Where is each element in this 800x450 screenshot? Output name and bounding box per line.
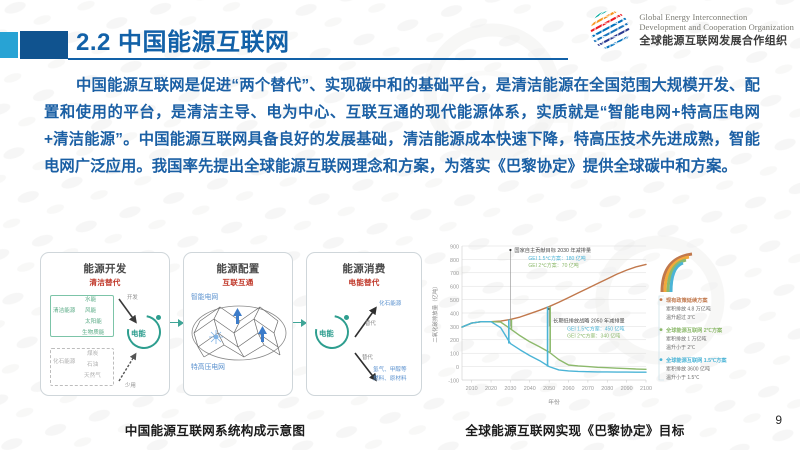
svg-text:-100: -100 bbox=[448, 378, 459, 384]
fossil-item-0: 煤炭 bbox=[87, 351, 98, 358]
organization-logo: Global Energy Interconnection Developmen… bbox=[588, 8, 794, 52]
chart-canvas: -100010020030040050060070080090020102020… bbox=[428, 240, 768, 408]
svg-text:累积排放 1 万亿吨: 累积排放 1 万亿吨 bbox=[666, 336, 707, 343]
caption-chart: 全球能源互联网实现《巴黎协定》目标 bbox=[430, 420, 720, 439]
fossil-energy-box bbox=[50, 348, 114, 386]
svg-text:400: 400 bbox=[450, 311, 459, 317]
panel-1-subtitle: 清洁替代 bbox=[41, 277, 169, 288]
svg-text:2070: 2070 bbox=[582, 386, 594, 392]
logo-en-line2: Development and Cooperation Organization bbox=[639, 22, 794, 32]
panel-2-title: 能源配置 bbox=[184, 261, 292, 276]
svg-text:GEI 2℃方案：70 亿吨: GEI 2℃方案：70 亿吨 bbox=[528, 262, 578, 269]
diagram-connector-1 bbox=[170, 322, 183, 323]
fossil-item-1: 石油 bbox=[87, 362, 98, 369]
fossil-group-label: 化石能源 bbox=[53, 359, 75, 366]
svg-text:2040: 2040 bbox=[524, 386, 536, 392]
consumption-target-fuel-line1: 氢气、甲醇等 bbox=[373, 366, 407, 374]
svg-text:800: 800 bbox=[450, 258, 459, 264]
consumption-target-fuel-line2: 燃料、原材料 bbox=[373, 375, 407, 383]
svg-text:900: 900 bbox=[450, 244, 459, 250]
svg-text:全球能源互联网 1.5℃方案: 全球能源互联网 1.5℃方案 bbox=[665, 356, 727, 364]
svg-text:2030: 2030 bbox=[504, 386, 516, 392]
svg-text:GEI 1.5℃方案：180 亿吨: GEI 1.5℃方案：180 亿吨 bbox=[528, 255, 585, 262]
logo-en-line1: Global Energy Interconnection bbox=[639, 12, 794, 22]
svg-text:全球能源互联网 2℃方案: 全球能源互联网 2℃方案 bbox=[665, 326, 723, 334]
diagram-panel-energy-development: 能源开发 清洁替代 清洁能源 水能 风能 太阳能 生物质能 化石能源 煤炭 石油… bbox=[40, 252, 170, 396]
clean-item-1: 风能 bbox=[85, 308, 96, 315]
diagram-panel-energy-consumption: 能源消费 电能替代 电能 替代 替代 化石能源 氢气、甲醇等 燃料、原材料 bbox=[306, 252, 422, 396]
svg-text:2010: 2010 bbox=[466, 386, 478, 392]
svg-text:500: 500 bbox=[450, 298, 459, 304]
logo-cn-name: 全球能源互联网发展合作组织 bbox=[639, 35, 794, 48]
emissions-projection-chart: -100010020030040050060070080090020102020… bbox=[428, 240, 768, 408]
panel-2-subtitle: 互联互通 bbox=[184, 277, 292, 288]
title-accent-block-light bbox=[0, 32, 18, 58]
svg-text:200: 200 bbox=[450, 338, 459, 344]
title-underline bbox=[68, 58, 568, 60]
consumption-target-fossil: 化石能源 bbox=[379, 300, 401, 308]
svg-text:二氧化碳排放量（亿吨）: 二氧化碳排放量（亿吨） bbox=[431, 283, 439, 342]
svg-text:现有政策延续方案: 现有政策延续方案 bbox=[666, 296, 708, 304]
svg-text:GEI 1.5℃方案：450 亿吨: GEI 1.5℃方案：450 亿吨 bbox=[567, 325, 624, 332]
svg-text:累积排放 4.8 万亿吨: 累积排放 4.8 万亿吨 bbox=[666, 306, 711, 313]
svg-text:温升超过 3℃: 温升超过 3℃ bbox=[666, 314, 695, 321]
arrow-label-replace-2: 替代 bbox=[362, 353, 373, 361]
electricity-label-1: 电能 bbox=[131, 328, 146, 339]
electricity-dot-icon-2 bbox=[344, 315, 349, 320]
panel-1-title: 能源开发 bbox=[41, 261, 169, 276]
svg-text:2050: 2050 bbox=[543, 386, 555, 392]
svg-text:100: 100 bbox=[450, 352, 459, 358]
fossil-item-2: 天然气 bbox=[84, 373, 101, 380]
svg-text:2090: 2090 bbox=[621, 386, 633, 392]
svg-text:700: 700 bbox=[450, 271, 459, 277]
slide-header: 2.2 中国能源互联网 bbox=[0, 0, 800, 72]
logo-text-block: Global Energy Interconnection Developmen… bbox=[639, 12, 794, 48]
page-number: 9 bbox=[775, 413, 782, 427]
body-paragraph: 中国能源互联网是促进“两个替代”、实现碳中和的基础平台，是清洁能源在全国范围大规… bbox=[44, 72, 760, 180]
svg-text:温升小于 1.5℃: 温升小于 1.5℃ bbox=[666, 374, 699, 381]
electricity-label-2: 电能 bbox=[319, 328, 334, 339]
svg-text:温升小于 2℃: 温升小于 2℃ bbox=[666, 344, 695, 351]
clean-item-2: 太阳能 bbox=[85, 319, 102, 326]
svg-text:600: 600 bbox=[450, 285, 459, 291]
panel-3-title: 能源消费 bbox=[307, 261, 421, 276]
caption-diagram: 中国能源互联网系统构成示意图 bbox=[70, 420, 360, 439]
clean-item-0: 水能 bbox=[85, 297, 96, 304]
svg-text:0: 0 bbox=[456, 365, 459, 371]
diagram-connector-2 bbox=[293, 322, 306, 323]
svg-text:年份: 年份 bbox=[548, 398, 560, 406]
svg-text:GEI 2℃方案：340 亿吨: GEI 2℃方案：340 亿吨 bbox=[567, 332, 620, 339]
svg-text:长期低排放战略 2050 年减排量: 长期低排放战略 2050 年减排量 bbox=[553, 316, 625, 324]
energy-system-diagram: 能源开发 清洁替代 清洁能源 水能 风能 太阳能 生物质能 化石能源 煤炭 石油… bbox=[40, 248, 422, 400]
diagram-panel-energy-allocation: 能源配置 互联互通 智能电网 bbox=[183, 252, 293, 396]
globe-grid-logo-icon bbox=[588, 8, 632, 52]
svg-text:2100: 2100 bbox=[640, 386, 652, 392]
smart-grid-label: 智能电网 bbox=[191, 291, 218, 301]
title-accent-block-dark bbox=[20, 31, 68, 59]
svg-text:2080: 2080 bbox=[601, 386, 613, 392]
clean-item-3: 生物质能 bbox=[82, 330, 104, 337]
svg-text:2020: 2020 bbox=[485, 386, 497, 392]
svg-text:300: 300 bbox=[450, 325, 459, 331]
arrow-label-develop: 开发 bbox=[127, 293, 138, 301]
electricity-dot-icon bbox=[156, 315, 161, 320]
grid-network-icon bbox=[190, 303, 288, 363]
page-title: 2.2 中国能源互联网 bbox=[76, 22, 290, 57]
svg-text:2060: 2060 bbox=[563, 386, 575, 392]
clean-energy-group-label: 清洁能源 bbox=[53, 308, 75, 315]
uhv-grid-label: 特高压电网 bbox=[191, 361, 225, 371]
arrow-label-replace-1: 替代 bbox=[365, 319, 376, 327]
svg-text:国家自主贡献目标 2030 年减排量: 国家自主贡献目标 2030 年减排量 bbox=[514, 246, 591, 254]
svg-text:累积排放 3600 亿吨: 累积排放 3600 亿吨 bbox=[666, 366, 710, 373]
arrow-label-reduce: 少用 bbox=[125, 381, 136, 389]
panel-3-subtitle: 电能替代 bbox=[307, 277, 421, 288]
